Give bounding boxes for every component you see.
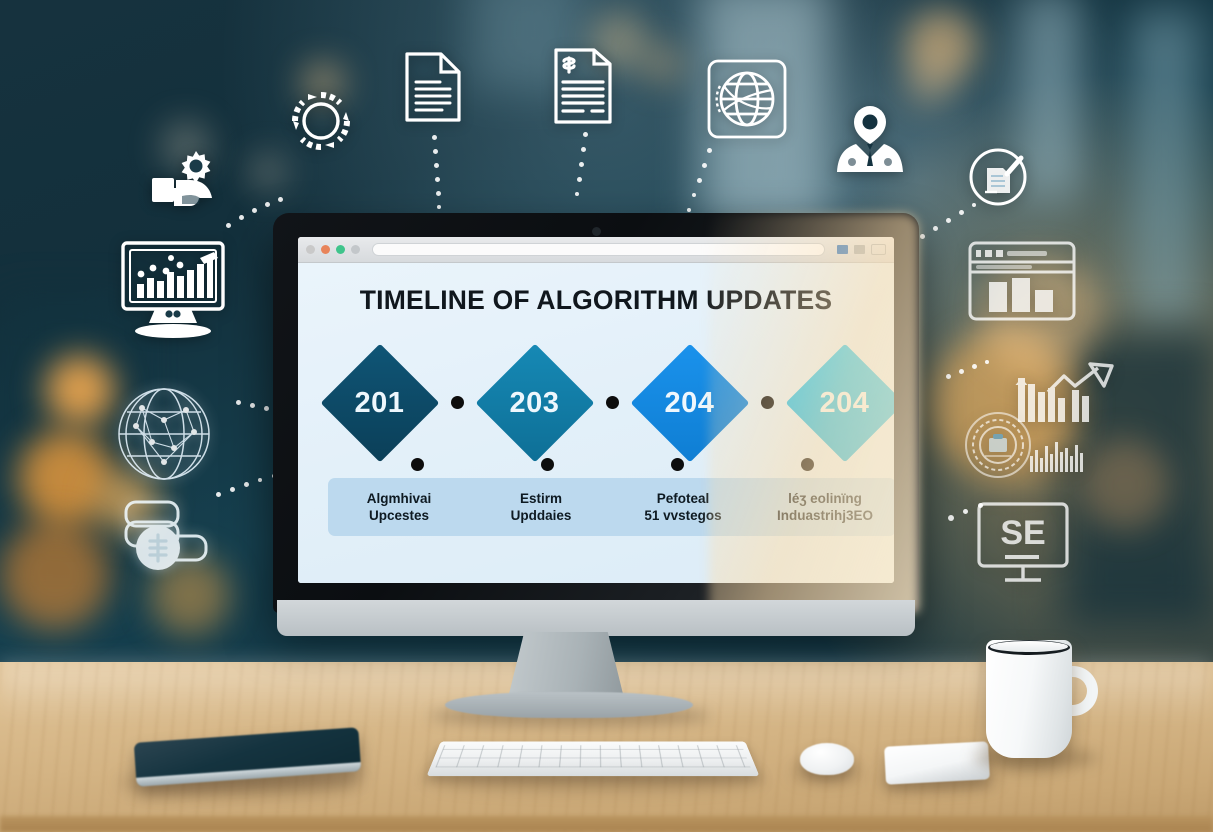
bokeh-light <box>1080 440 1170 530</box>
scene-root: SE <box>0 0 1213 832</box>
infographic: TIMELINE OF ALGORITHM UPDATES 201 203 <box>298 263 894 583</box>
businessperson-icon <box>834 104 906 174</box>
caption-line-1: Algmhivai <box>367 491 432 507</box>
milestone-3[interactable]: 204 <box>631 344 749 462</box>
bokeh-light <box>45 355 115 425</box>
settings-ring-icon <box>288 88 354 154</box>
mouse[interactable] <box>800 743 854 775</box>
traffic-light-maximize[interactable] <box>336 245 345 254</box>
bar-histogram-icon <box>1030 442 1086 472</box>
desktop-monitor: TIMELINE OF ALGORITHM UPDATES 201 203 <box>273 213 919 613</box>
page-title: TIMELINE OF ALGORITHM UPDATES <box>314 285 878 316</box>
traffic-light-close[interactable] <box>306 245 315 254</box>
background-window <box>1020 0 1080 200</box>
stem-dot <box>801 458 814 471</box>
caption-line-1: Pefoteal <box>657 491 710 507</box>
stem-dot-row <box>314 458 894 478</box>
browser-window[interactable]: TIMELINE OF ALGORITHM UPDATES 201 203 <box>298 237 894 583</box>
caption-line-1: Estirm <box>520 491 562 507</box>
seo-icon-text: SE <box>1000 514 1045 552</box>
monitor-chin <box>277 600 915 636</box>
edit-document-icon <box>967 146 1029 208</box>
milestone-1[interactable]: 201 <box>321 344 439 462</box>
mug-rim-highlight <box>990 641 1068 652</box>
caption-4: léʒ eolinïng Induastrihj3EO <box>754 478 894 536</box>
mug-body <box>986 640 1072 758</box>
milestone-year: 203 <box>476 344 594 462</box>
caption-bar: Algmhivai Upcestes Estirm Upddaies Pefot… <box>328 478 894 536</box>
caption-2: Estirm Upddaies <box>470 478 612 536</box>
caption-line-2: 51 vvstegos <box>644 508 721 524</box>
caption-line-2: Upddaies <box>511 508 572 524</box>
monitor-stand-base <box>445 692 693 718</box>
milestone-year: 204 <box>631 344 749 462</box>
milestone-4[interactable]: 204 <box>786 344 895 462</box>
milestone-row: 201 203 204 <box>314 338 894 468</box>
connector-dot <box>761 396 774 409</box>
mug[interactable] <box>986 640 1084 762</box>
bokeh-light <box>248 152 288 192</box>
tech-circle-icon <box>963 410 1033 480</box>
network-globe-icon <box>116 386 212 482</box>
milestone-year: 201 <box>321 344 439 462</box>
keyboard-keys <box>435 745 750 767</box>
timeline: 201 203 204 <box>314 338 878 506</box>
stem-dot <box>541 458 554 471</box>
seo-monitor-icon: SE <box>975 500 1071 588</box>
bokeh-light <box>640 42 684 86</box>
caption-3: Pefoteal 51 vvstegos <box>612 478 754 536</box>
address-bar[interactable] <box>372 243 825 256</box>
document-icon <box>403 50 463 124</box>
bokeh-light <box>0 520 110 630</box>
traffic-light-minimize[interactable] <box>321 245 330 254</box>
connector-dot <box>606 396 619 409</box>
monitor-stand-neck <box>508 632 624 698</box>
phone[interactable] <box>884 741 990 784</box>
stem-dot <box>411 458 424 471</box>
browser-chrome <box>298 237 894 263</box>
new-tab-icon[interactable] <box>871 244 886 255</box>
browser-barchart-icon <box>967 240 1077 322</box>
monitor-analytics-icon <box>108 240 238 340</box>
milestone-year: 204 <box>786 344 895 462</box>
money-coin-icon <box>122 496 210 574</box>
reload-icon[interactable] <box>351 245 360 254</box>
user-gear-icon <box>152 150 230 212</box>
background-window <box>1130 10 1200 330</box>
invoice-dollar-icon <box>552 46 614 126</box>
milestone-2[interactable]: 203 <box>476 344 594 462</box>
caption-line-2: Induastrihj3EO <box>777 508 873 524</box>
stem-dot <box>671 458 684 471</box>
globe-square-icon <box>706 58 788 140</box>
menu-icon[interactable] <box>854 245 865 254</box>
keyboard[interactable] <box>434 736 752 780</box>
webcam-icon <box>592 227 601 236</box>
caption-1: Algmhivai Upcestes <box>328 478 470 536</box>
caption-line-2: Upcestes <box>369 508 429 524</box>
desk-front-edge <box>0 816 1213 832</box>
bokeh-light <box>905 60 953 108</box>
connector-dot <box>451 396 464 409</box>
caption-line-1: léʒ eolinïng <box>788 491 862 507</box>
extension-icon[interactable] <box>837 245 848 254</box>
